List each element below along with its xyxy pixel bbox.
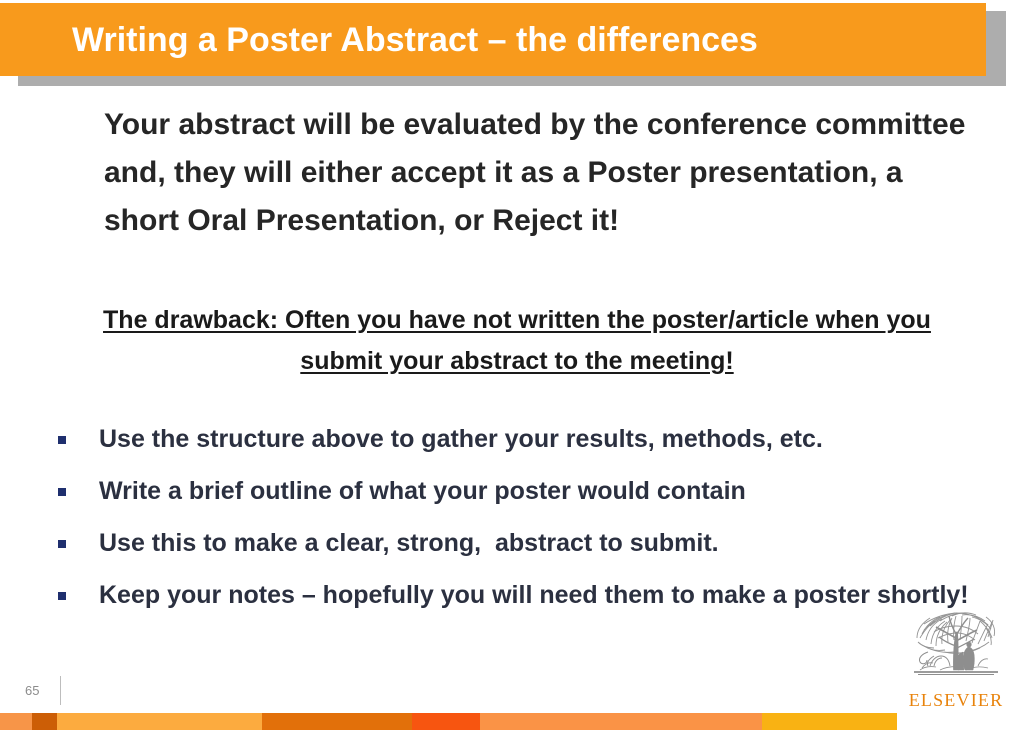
emphasis-paragraph-text: The drawback: Often you have not written… xyxy=(103,306,931,375)
segment-light-orange-1 xyxy=(0,713,32,730)
list-item: Keep your notes – hopefully you will nee… xyxy=(58,576,988,615)
list-item-label: Use the structure above to gather your r… xyxy=(99,420,988,459)
segment-amber-2 xyxy=(762,713,897,730)
intro-paragraph: Your abstract will be evaluated by the c… xyxy=(104,101,984,245)
list-item: Use the structure above to gather your r… xyxy=(58,420,988,459)
emphasis-paragraph: The drawback: Often you have not written… xyxy=(72,300,962,382)
square-bullet-icon xyxy=(58,436,66,444)
footer-color-bar xyxy=(0,713,1020,730)
page-number: 65 xyxy=(25,683,39,698)
square-bullet-icon xyxy=(58,488,66,496)
segment-dark-orange-1 xyxy=(32,713,57,730)
square-bullet-icon xyxy=(58,592,66,600)
footer-divider xyxy=(60,676,61,705)
elsevier-logo: ELSEVIER xyxy=(900,608,1012,712)
segment-amber-1 xyxy=(57,713,262,730)
page-title: Writing a Poster Abstract – the differen… xyxy=(72,17,758,63)
list-item: Write a brief outline of what your poste… xyxy=(58,472,988,511)
segment-red-orange xyxy=(412,713,480,730)
list-item: Use this to make a clear, strong, abstra… xyxy=(58,524,988,563)
list-item-label: Use this to make a clear, strong, abstra… xyxy=(99,524,988,563)
title-banner: Writing a Poster Abstract – the differen… xyxy=(0,3,986,76)
list-item-label: Keep your notes – hopefully you will nee… xyxy=(99,576,988,615)
square-bullet-icon xyxy=(58,540,66,548)
elsevier-wordmark: ELSEVIER xyxy=(900,690,1012,711)
list-item-label: Write a brief outline of what your poste… xyxy=(99,472,988,511)
slide-canvas: Writing a Poster Abstract – the differen… xyxy=(0,0,1020,730)
segment-white xyxy=(897,713,1020,730)
bullet-list: Use the structure above to gather your r… xyxy=(58,420,988,628)
segment-dark-orange-2 xyxy=(262,713,412,730)
segment-light-orange-2 xyxy=(480,713,762,730)
elsevier-tree-icon xyxy=(900,608,1012,694)
